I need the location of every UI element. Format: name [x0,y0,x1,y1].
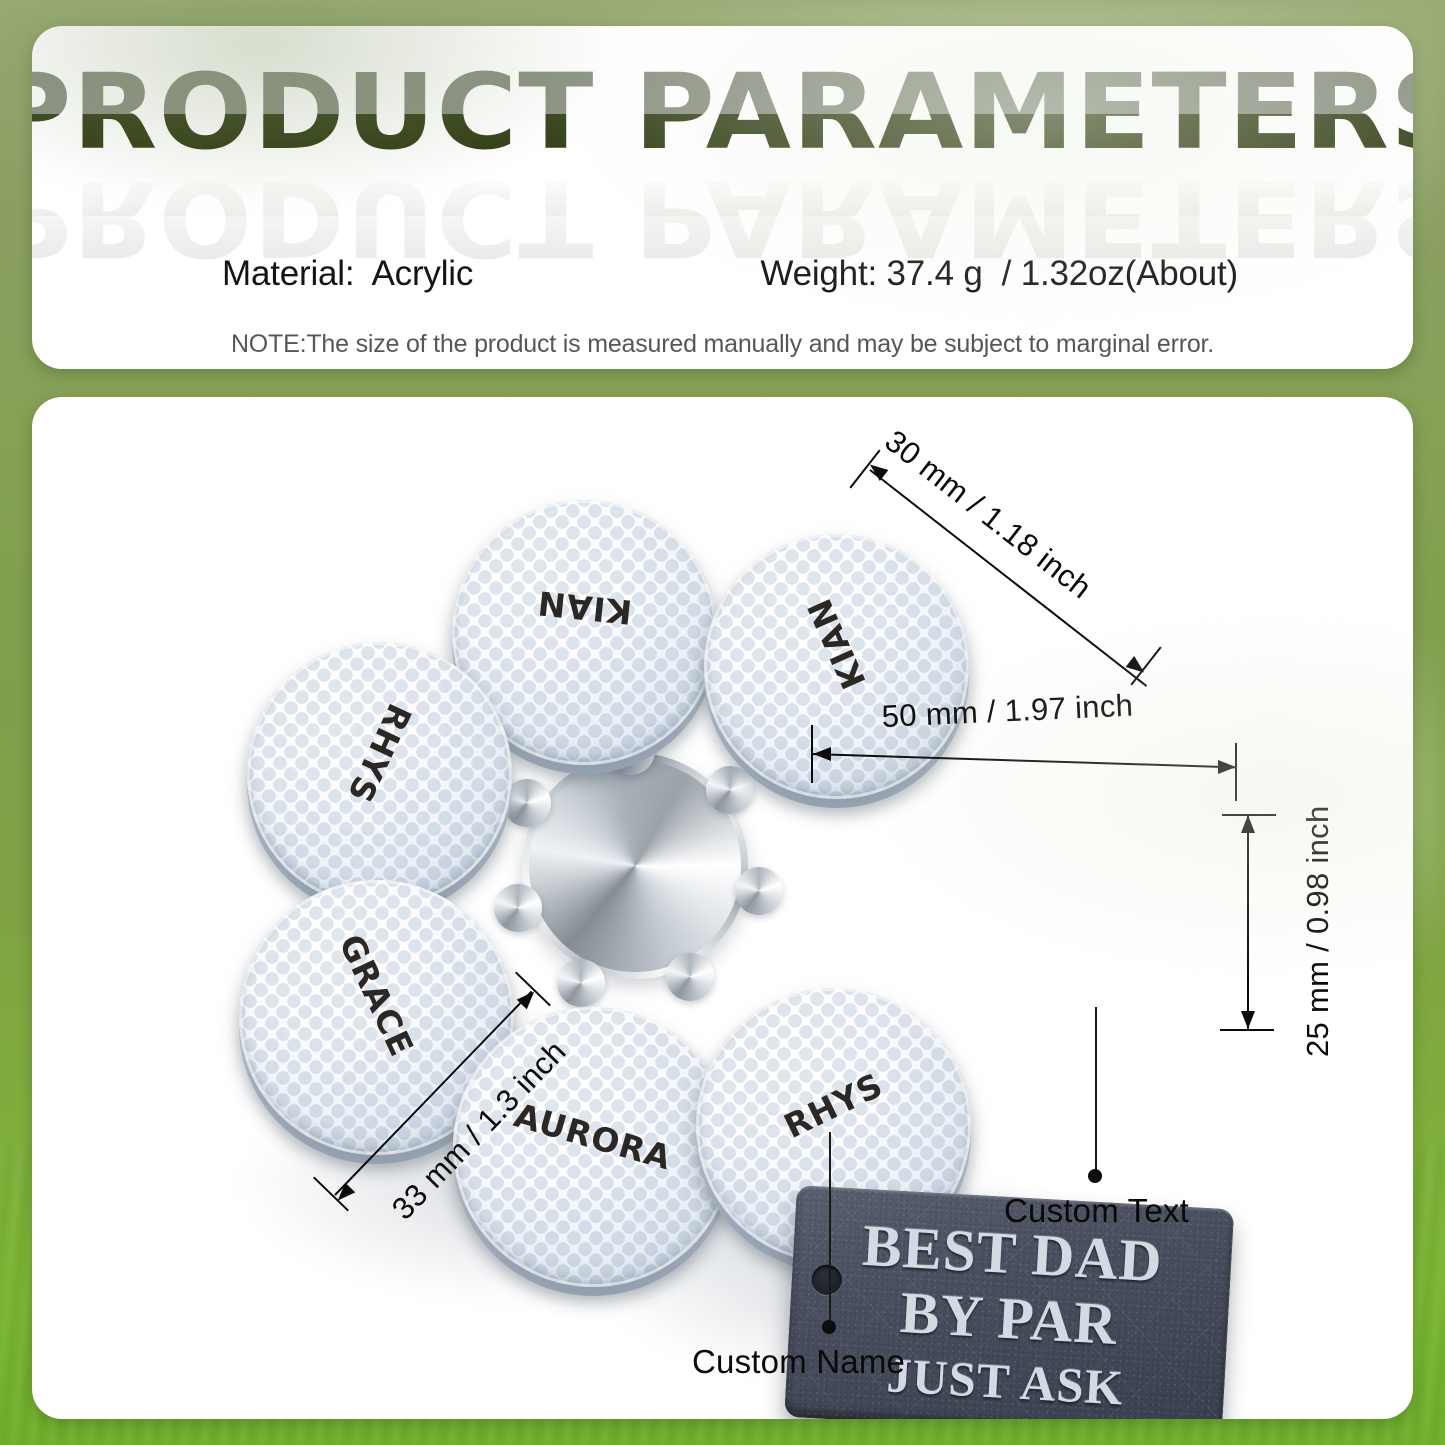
dim-25mm-tick-bottom [1220,1029,1274,1031]
callout-custom-name-line [829,1132,831,1328]
charm-name-rhys-left: RHYS [306,625,453,882]
dim-25mm-arrow-top [1241,815,1255,833]
jump-ring [557,959,605,1007]
dim-50mm-arrow-end [1218,760,1236,774]
dim-25mm-label: 25 mm / 0.98 inch [1300,806,1336,1058]
jump-ring [666,953,714,1001]
charm-kian-right: KIAN [704,534,969,799]
header-card: PRODUCT PARAMETERS PRODUCT PARAMETERS Ma… [32,26,1413,369]
callout-custom-name-dot [822,1320,836,1334]
infographic-canvas: PRODUCT PARAMETERS PRODUCT PARAMETERS Ma… [0,0,1445,1445]
product-photo-card: KIAN KIAN RHYS GRACE AURORA [32,397,1413,1419]
charm-name-kian-right: KIAN [765,515,908,773]
callout-custom-text-line [1095,1007,1097,1177]
spec-weight: Weight: 37.4 g / 1.32oz(About) [760,254,1238,294]
spec-material: Material: Acrylic [222,254,473,294]
callout-custom-text-label: Custom Text [1004,1192,1189,1230]
page-title-block: PRODUCT PARAMETERS PRODUCT PARAMETERS [32,60,1413,230]
measurement-note: NOTE:The size of the product is measured… [32,330,1413,359]
dim-25mm-arrow-bottom [1241,1011,1255,1029]
page-title: PRODUCT PARAMETERS [32,60,1413,164]
spec-row: Material: Acrylic Weight: 37.4 g / 1.32o… [32,254,1413,294]
callout-custom-name-label: Custom Name [692,1343,905,1381]
dim-25mm-line [1247,816,1249,1031]
charm-rhys-left: RHYS [247,642,512,907]
charm-name-rhys-right: RHYS [701,1028,965,1184]
jump-ring [735,867,783,915]
charm-name-kian-top: KIAN [451,574,719,640]
jump-ring [494,884,542,932]
charm-aurora: AURORA [453,1007,733,1287]
dim-30mm-arrow-end [1126,656,1149,678]
callout-custom-text-dot [1088,1169,1102,1183]
dim-50mm-arrow-start [813,747,831,761]
product-photo: KIAN KIAN RHYS GRACE AURORA [32,397,1413,1419]
charm-name-grace: GRACE [301,863,453,1129]
